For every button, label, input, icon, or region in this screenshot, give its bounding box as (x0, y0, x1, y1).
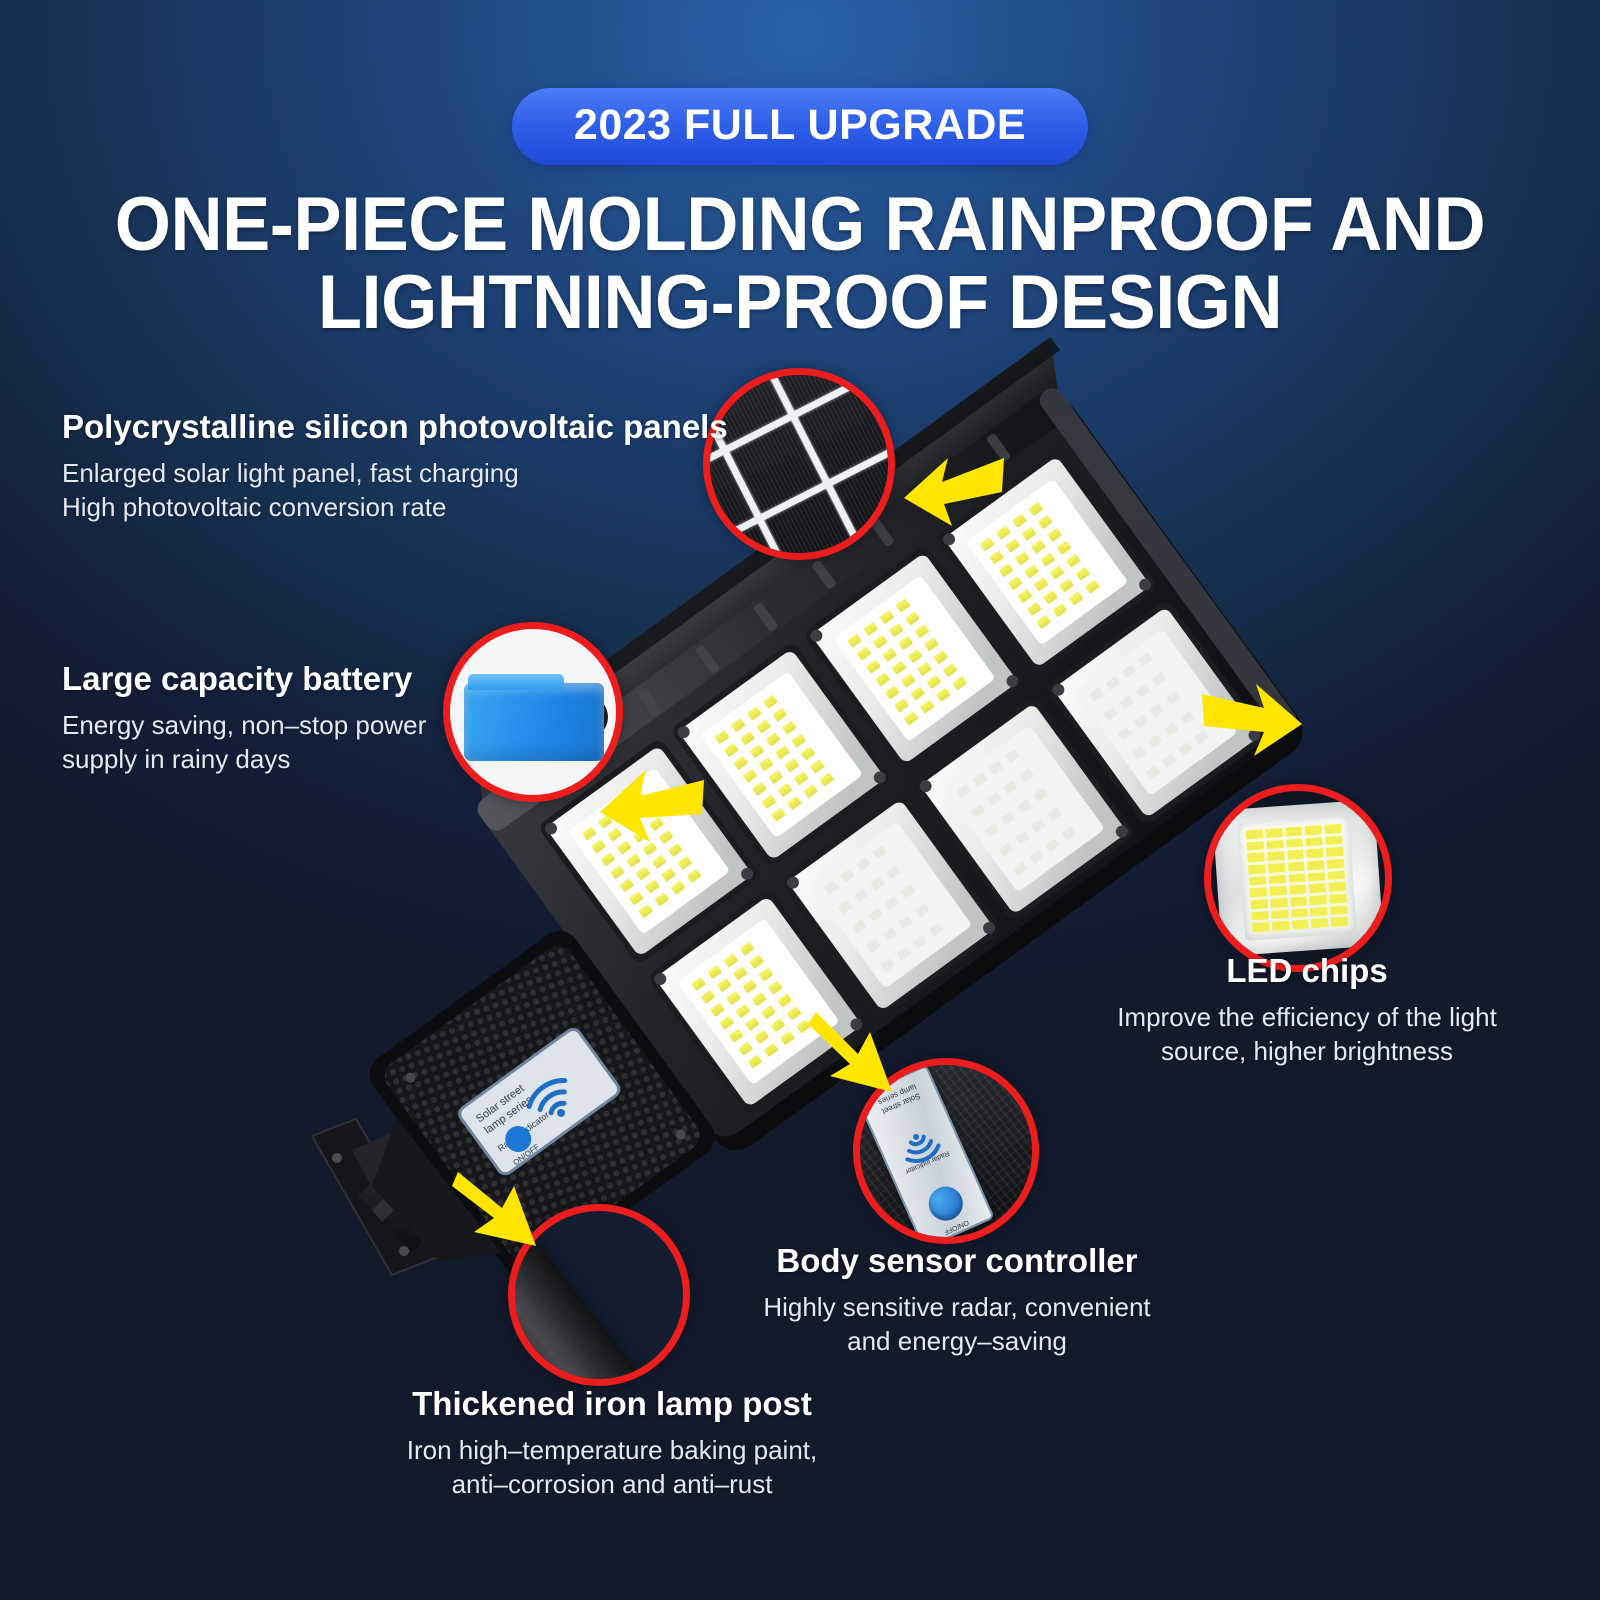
arrow-to-led-chips (1198, 678, 1308, 772)
feature-solar-panel-title: Polycrystalline silicon photovoltaic pan… (62, 408, 728, 446)
feature-body-sensor-desc: Highly sensitive radar, convenient and e… (732, 1290, 1182, 1359)
arrow-to-solar-panel (898, 452, 1006, 544)
callout-led-chip (1204, 784, 1392, 972)
svg-text:Radar indicator: Radar indicator (496, 1110, 551, 1154)
wall-mount-bracket (312, 1119, 437, 1275)
feature-led-chips-title: LED chips (1062, 952, 1552, 990)
feature-lamp-post: Thickened iron lamp post Iron high–tempe… (382, 1385, 842, 1502)
feature-led-chips: LED chips Improve the efficiency of the … (1062, 952, 1552, 1069)
feature-body-sensor: Body sensor controller Highly sensitive … (732, 1242, 1182, 1359)
feature-battery-desc: Energy saving, non–stop power supply in … (62, 708, 426, 777)
arrow-to-battery (594, 762, 706, 852)
arrow-to-lamp-post (452, 1166, 552, 1264)
upgrade-badge: 2023 FULL UPGRADE (512, 88, 1088, 165)
arrow-to-body-sensor (806, 1006, 906, 1102)
feature-body-sensor-title: Body sensor controller (732, 1242, 1182, 1280)
svg-text:Solar street: Solar street (474, 1083, 527, 1126)
feature-solar-panel: Polycrystalline silicon photovoltaic pan… (62, 408, 728, 525)
feature-battery: Large capacity battery Energy saving, no… (62, 660, 426, 777)
headline-line-1: ONE-PIECE MOLDING RAINPROOF AND (40, 186, 1560, 264)
product-infographic: Solar street lamp series Radar indicator… (0, 0, 1600, 1600)
feature-lamp-post-desc: Iron high–temperature baking paint, anti… (382, 1433, 842, 1502)
svg-text:ON/OFF: ON/OFF (511, 1142, 541, 1167)
callout-solar-panel (703, 368, 895, 560)
feature-battery-title: Large capacity battery (62, 660, 426, 698)
upgrade-badge-label: 2023 FULL UPGRADE (574, 104, 1026, 147)
feature-led-chips-desc: Improve the efficiency of the light sour… (1062, 1000, 1552, 1069)
page-title: ONE-PIECE MOLDING RAINPROOF AND LIGHTNIN… (0, 186, 1600, 341)
feature-solar-panel-desc: Enlarged solar light panel, fast chargin… (62, 456, 728, 525)
headline-line-2: LIGHTNING-PROOF DESIGN (40, 264, 1560, 342)
svg-text:lamp series: lamp series (482, 1094, 535, 1137)
feature-lamp-post-title: Thickened iron lamp post (382, 1385, 842, 1423)
